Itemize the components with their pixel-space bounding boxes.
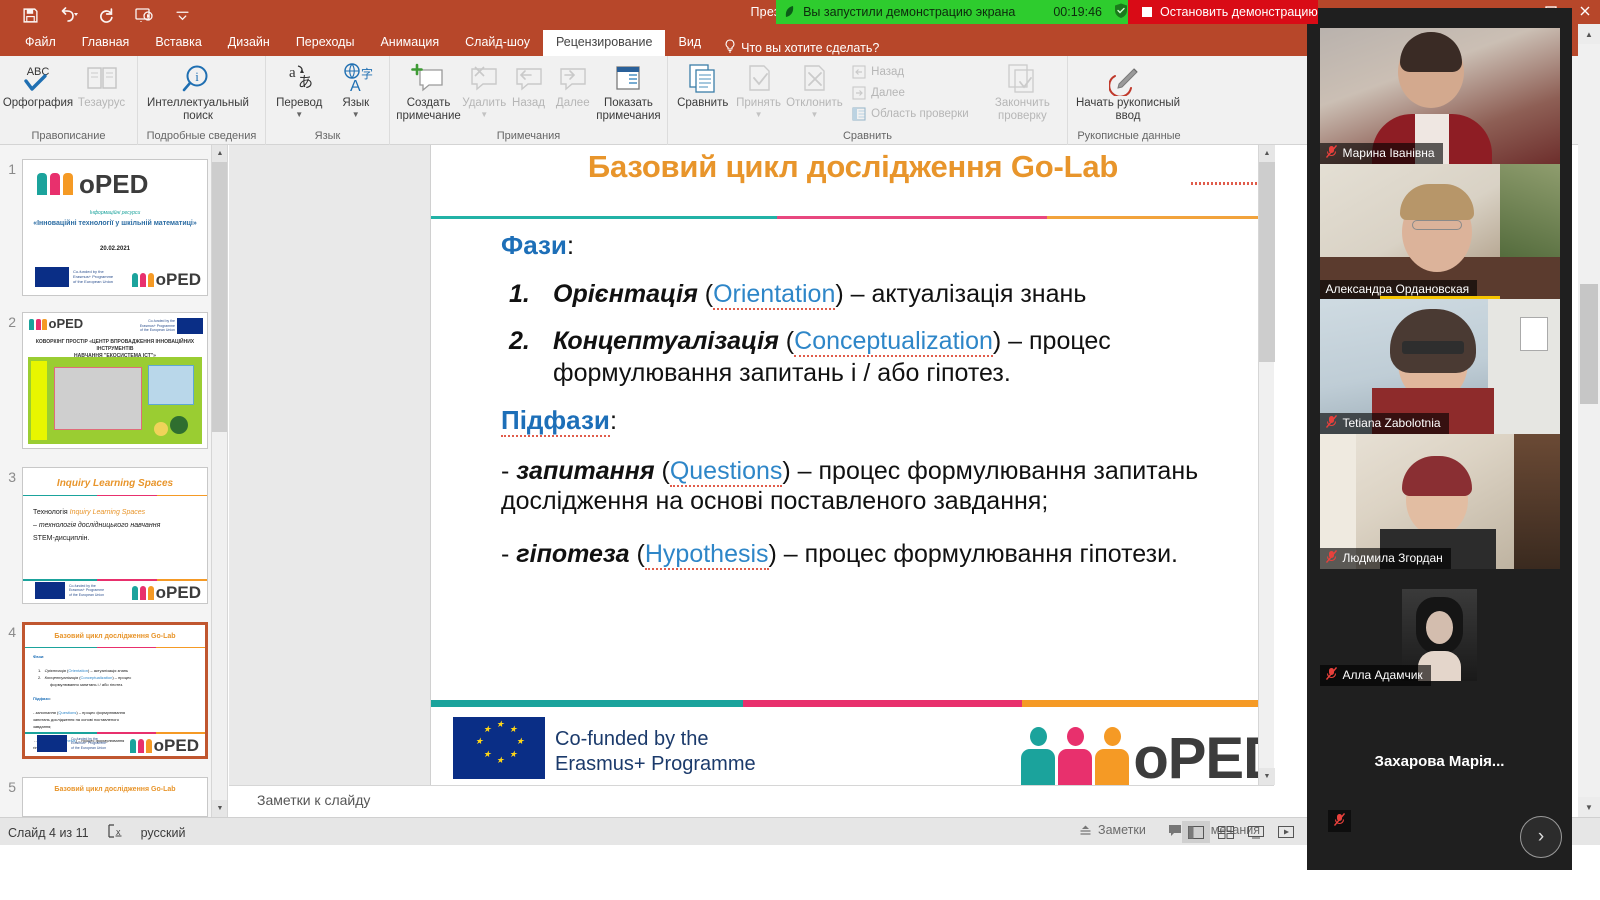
subphases-heading: Підфази:: [501, 405, 1274, 436]
group-label-ink: Рукописные данные: [1073, 130, 1185, 145]
tab-0[interactable]: Файл: [12, 30, 69, 56]
back-arrow-icon: [852, 65, 866, 79]
view-buttons: [1182, 821, 1300, 843]
slide-title[interactable]: Базовий цикл дослідження Go-Lab: [431, 149, 1274, 185]
oped-wordmark: oPED: [1133, 733, 1274, 785]
group-label-insights: Подробные сведения: [143, 130, 260, 145]
svg-text:A: A: [350, 78, 361, 95]
accept-icon: [741, 61, 777, 97]
scroll-up-icon[interactable]: ▲: [1578, 24, 1600, 44]
thesaurus-label: Тезаурус: [78, 97, 125, 110]
compare-small-commands: Назад Далее Область проверки: [848, 59, 973, 127]
spelling-button[interactable]: ABC Орфография: [5, 59, 71, 110]
thesaurus-button[interactable]: Тезаурус: [71, 59, 132, 110]
subphase-rest: – процес формулювання гіпотези.: [777, 540, 1178, 568]
slide-top-rule: [431, 216, 1274, 219]
scroll-up-icon[interactable]: ▲: [212, 145, 228, 162]
right-edge-scrollbar[interactable]: ▲ ▼: [1578, 24, 1600, 817]
mic-muted-icon: [1326, 415, 1337, 431]
notes-toggle-label: Заметки: [1098, 823, 1146, 837]
participant-nametag: Марина Іванівна: [1320, 143, 1443, 164]
scrollbar-thumb[interactable]: [212, 162, 228, 432]
scroll-down-icon[interactable]: ▼: [1578, 797, 1600, 817]
show-comments-button[interactable]: Показать примечания: [595, 59, 662, 123]
slideshow-view-icon[interactable]: [1272, 821, 1300, 843]
tab-8[interactable]: Вид: [665, 30, 714, 56]
svg-text:i: i: [195, 69, 199, 84]
delete-comment-button[interactable]: Удалить ▼: [462, 59, 506, 119]
subphase-dash: -: [501, 540, 516, 568]
chevron-down-icon[interactable]: ▼: [480, 111, 488, 119]
smart-lookup-button[interactable]: i Интеллектуальный поиск: [143, 59, 253, 123]
paren-close: ): [769, 540, 777, 568]
compare-back-button[interactable]: Назад: [848, 62, 973, 83]
subphase-item-1: - запитання (Questions) – процес формулю…: [501, 456, 1274, 517]
reject-icon: [796, 61, 832, 97]
new-comment-icon: [410, 61, 448, 97]
mic-muted-icon: [1328, 810, 1351, 832]
lightbulb-icon: [724, 39, 736, 56]
language-label: Язык: [342, 97, 369, 110]
phase-number: 1.: [501, 279, 553, 310]
reject-label: Отклонить: [786, 97, 843, 110]
subphase-item-2: - гіпотеза (Hypothesis) – процес формулю…: [501, 539, 1274, 570]
comment-icon: [1168, 824, 1182, 837]
language-icon: A字: [338, 61, 374, 97]
thumb-slide-1[interactable]: oPED Інформаційні ресурси «Інноваційні т…: [22, 159, 208, 296]
stop-square-icon: [1142, 7, 1152, 17]
subphase-term: гіпотеза: [516, 540, 629, 568]
compare-back-label: Назад: [871, 66, 904, 78]
participant-nametag: Tetiana Zabolotnia: [1320, 413, 1449, 434]
shield-icon[interactable]: [1114, 3, 1128, 21]
share-message: Вы запустили демонстрацию экрана: [803, 5, 1015, 19]
delete-comment-label: Удалить: [462, 97, 506, 110]
paren-close: ): [835, 280, 843, 308]
slide-body[interactable]: Фази: 1. Орієнтація (Orientation) – акту…: [501, 230, 1274, 579]
zoom-leaf-icon: [776, 5, 803, 19]
chevron-down-icon[interactable]: ▼: [755, 111, 763, 119]
tab-5[interactable]: Анимация: [367, 30, 452, 56]
thumbnails-scrollbar[interactable]: ▲ ▼: [211, 145, 227, 817]
participant-name: Марина Іванівна: [1343, 146, 1435, 160]
slide-counter[interactable]: Слайд 4 из 11: [8, 826, 89, 840]
mic-muted-icon: [1326, 550, 1337, 566]
scroll-down-icon[interactable]: ▼: [1259, 768, 1275, 785]
slide-canvas-area: Базовий цикл дослідження Go-Lab Фази: 1.: [229, 145, 1274, 785]
cofunded-line-2: Erasmus+ Programme: [555, 752, 756, 777]
tab-4[interactable]: Переходы: [283, 30, 368, 56]
stop-share-label: Остановить демонстрацию: [1160, 5, 1318, 19]
abc-check-icon: ABC: [19, 61, 57, 97]
share-status: Вы запустили демонстрацию экрана 00:19:4…: [776, 0, 1128, 24]
compare-next-label: Далее: [871, 87, 905, 99]
chevron-down-icon[interactable]: ▼: [352, 111, 360, 119]
compare-next-button[interactable]: Далее: [848, 83, 973, 104]
end-review-icon: [1004, 61, 1040, 97]
ribbon-group-language: aあ Перевод ▼ A字 Язык ▼: [266, 56, 390, 145]
chevron-down-icon[interactable]: ▼: [810, 111, 818, 119]
share-timer: 00:19:46: [1053, 5, 1102, 19]
phases-colon: :: [567, 230, 574, 260]
cofunded-line-1: Co-funded by the: [555, 727, 756, 752]
thumb-number: 1: [0, 159, 22, 296]
phases-heading-text: Фази: [501, 230, 567, 260]
smart-lookup-label: Интеллектуальный поиск: [143, 97, 253, 123]
scrollbar-thumb[interactable]: [1580, 284, 1598, 404]
list-item[interactable]: 5 Базовий цикл дослідження Go-Lab: [0, 777, 228, 817]
tab-3[interactable]: Дизайн: [215, 30, 283, 56]
participant-tile[interactable]: Александра Ордановская: [1320, 164, 1560, 299]
slide-scrollbar[interactable]: ▲ ▼: [1258, 145, 1274, 785]
forward-arrow-icon: [852, 86, 866, 100]
list-item[interactable]: 4 Базовий цикл дослідження Go-Lab Фази: …: [0, 622, 228, 759]
participant-tile[interactable]: Марина Іванівна: [1320, 28, 1560, 164]
prev-comment-label: Назад: [512, 97, 545, 110]
group-label-compare: Сравнить: [673, 130, 1062, 145]
next-comment-label: Далее: [556, 97, 590, 110]
phase-english: Orientation: [713, 280, 835, 310]
eu-flag-icon: ★★★ ★★★ ★★: [453, 717, 545, 779]
list-item[interactable]: 3 Inquiry Learning Spaces Технологія Inq…: [0, 467, 228, 604]
oped-logo: oPED: [1021, 727, 1274, 785]
screen-share-banner: Вы запустили демонстрацию экрана 00:19:4…: [776, 0, 1306, 24]
list-item[interactable]: 1 oPED Інформаційні ресурси «Інноваційні…: [0, 159, 228, 296]
svg-text:字: 字: [361, 66, 373, 81]
scroll-up-icon[interactable]: ▲: [1259, 145, 1275, 162]
participant-name: Tetiana Zabolotnia: [1343, 416, 1441, 430]
current-slide[interactable]: Базовий цикл дослідження Go-Lab Фази: 1.: [430, 145, 1274, 785]
svg-text:あ: あ: [298, 74, 313, 91]
participant-tile[interactable]: Захарова Марія...: [1320, 700, 1560, 840]
scroll-down-icon[interactable]: ▼: [212, 800, 228, 817]
phase-term: Концептуалізація: [553, 327, 779, 355]
phase-rest: – актуалізація знань: [844, 280, 1087, 308]
tell-me-label: Что вы хотите сделать?: [741, 41, 879, 55]
prev-comment-button[interactable]: Назад: [506, 59, 550, 110]
thumb-slide-5[interactable]: Базовий цикл дослідження Go-Lab: [22, 777, 208, 817]
new-comment-label: Создать примечание: [395, 97, 462, 123]
zoom-video-panel[interactable]: Марина Іванівна Александра Ордановская: [1307, 8, 1572, 870]
start-inking-button[interactable]: Начать рукописный ввод: [1073, 59, 1183, 123]
show-comments-icon: [609, 61, 647, 97]
participant-nametag: Алла Адамчик: [1320, 665, 1431, 686]
participant-name: Алла Адамчик: [1343, 668, 1423, 682]
group-label-language: Язык: [271, 130, 384, 145]
phase-number: 2.: [501, 326, 553, 389]
tab-6[interactable]: Слайд-шоу: [452, 30, 543, 56]
ribbon-group-proofing: ABC Орфография Тезаурус Правописание: [0, 56, 138, 145]
phase-item-1: 1. Орієнтація (Orientation) – актуалізац…: [501, 279, 1274, 310]
next-comment-icon: [555, 61, 591, 97]
subphase-dash: -: [501, 457, 516, 485]
end-review-label: Закончить проверку: [983, 97, 1062, 123]
proofing-icon[interactable]: x: [107, 824, 123, 841]
next-comment-button[interactable]: Далее: [551, 59, 595, 110]
revision-pane-button[interactable]: Область проверки: [848, 104, 973, 125]
paren-open: (: [698, 280, 713, 308]
accept-button[interactable]: Принять ▼: [732, 59, 784, 119]
phases-list: 1. Орієнтація (Orientation) – актуалізац…: [501, 279, 1274, 389]
compare-icon: [685, 61, 721, 97]
thumb-number: 4: [0, 622, 22, 759]
subphases-colon: :: [610, 405, 617, 435]
paren-open: (: [655, 457, 670, 485]
subphases-heading-text: Підфази: [501, 405, 610, 437]
translate-label: Перевод: [276, 97, 322, 110]
slide-footer-rule: [431, 700, 1274, 707]
notes-pane[interactable]: Заметки к слайду: [229, 785, 1274, 817]
participant-tile[interactable]: Tetiana Zabolotnia: [1320, 299, 1560, 434]
chevron-down-icon[interactable]: ▼: [295, 111, 303, 119]
tell-me-box[interactable]: Что вы хотите сделать?: [714, 39, 879, 56]
notes-placeholder[interactable]: Заметки к слайду: [257, 792, 370, 808]
group-label-proofing: Правописание: [5, 130, 132, 145]
close-icon[interactable]: [1578, 4, 1592, 23]
participant-name: Захарова Марія...: [1320, 753, 1560, 770]
show-comments-label: Показать примечания: [595, 97, 662, 123]
mic-muted-icon: [1326, 145, 1337, 161]
prev-comment-icon: [511, 61, 547, 97]
magnifier-info-icon: i: [180, 61, 216, 97]
compare-label: Сравнить: [677, 97, 728, 110]
participant-name: Александра Ордановская: [1326, 282, 1470, 296]
phase-text: Орієнтація (Orientation) – актуалізація …: [553, 279, 1274, 310]
phase-item-2: 2. Концептуалізація (Conceptualization) …: [501, 326, 1274, 389]
end-review-button[interactable]: Закончить проверку: [983, 59, 1062, 123]
phase-term: Орієнтація: [553, 280, 698, 308]
ink-pen-icon: [1109, 61, 1147, 97]
mic-muted-icon: [1326, 667, 1337, 683]
thumb-slide-4[interactable]: Базовий цикл дослідження Go-Lab Фази: 1.…: [22, 622, 208, 759]
phase-text: Концептуалізація (Conceptualization) – п…: [553, 326, 1274, 389]
thumb-number: 5: [0, 777, 22, 817]
language-indicator[interactable]: русский: [141, 826, 186, 840]
revision-pane-icon: [852, 107, 866, 121]
thumb-slide-2[interactable]: oPED Co-funded by theErasmus+ Programmeo…: [22, 312, 208, 449]
book-icon: [85, 61, 119, 97]
stop-share-button[interactable]: Остановить демонстрацию: [1128, 0, 1318, 24]
tab-1[interactable]: Главная: [69, 30, 143, 56]
phase-english: Conceptualization: [794, 327, 993, 357]
notes-icon: [1079, 824, 1092, 837]
reject-button[interactable]: Отклонить ▼: [785, 59, 844, 119]
svg-text:a: a: [289, 65, 296, 81]
paren-close: ): [993, 327, 1001, 355]
subphase-english: Hypothesis: [645, 540, 769, 570]
start-inking-label: Начать рукописный ввод: [1073, 97, 1183, 123]
cofunded-text: Co-funded by the Erasmus+ Programme: [555, 727, 756, 777]
translate-button[interactable]: aあ Перевод ▼: [271, 59, 328, 119]
compare-button[interactable]: Сравнить: [673, 59, 732, 110]
language-button[interactable]: A字 Язык ▼: [328, 59, 385, 119]
participant-tile[interactable]: Алла Адамчик: [1320, 569, 1560, 700]
slide-thumbnails-pane[interactable]: 1 oPED Інформаційні ресурси «Інноваційні…: [0, 145, 228, 817]
next-page-chevron-icon[interactable]: ›: [1520, 816, 1562, 858]
subphase-english: Questions: [670, 457, 783, 487]
sorter-view-icon[interactable]: [1212, 821, 1240, 843]
spelling-label: Орфография: [3, 97, 73, 110]
subphase-term: запитання: [516, 457, 654, 485]
reading-view-icon[interactable]: [1242, 821, 1270, 843]
list-item[interactable]: 2 oPED Co-funded by theErasmus+ Programm…: [0, 312, 228, 449]
notes-toggle[interactable]: Заметки: [1079, 823, 1146, 837]
thumb-number: 3: [0, 467, 22, 604]
phases-heading: Фази:: [501, 230, 1274, 261]
thumb-slide-3[interactable]: Inquiry Learning Spaces Технологія Inqui…: [22, 467, 208, 604]
delete-comment-icon: [466, 61, 502, 97]
group-label-comments: Примечания: [395, 130, 662, 145]
revision-pane-label: Область проверки: [871, 108, 969, 120]
participant-tile[interactable]: Людмила Згордан: [1320, 434, 1560, 569]
participant-name: Людмила Згордан: [1343, 551, 1443, 565]
new-comment-button[interactable]: Создать примечание: [395, 59, 462, 123]
normal-view-icon[interactable]: [1182, 821, 1210, 843]
oped-people-icon: [1021, 727, 1129, 785]
tab-7[interactable]: Рецензирование: [543, 30, 666, 56]
ribbon-group-comments: Создать примечание Удалить ▼: [390, 56, 668, 145]
accept-label: Принять: [736, 97, 781, 110]
translate-icon: aあ: [281, 61, 317, 97]
tab-2[interactable]: Вставка: [142, 30, 214, 56]
participant-nametag: Людмила Згордан: [1320, 548, 1451, 569]
paren-open: (: [630, 540, 645, 568]
ribbon-group-ink: Начать рукописный ввод Рукописные данные: [1068, 56, 1190, 145]
paren-close: ): [782, 457, 790, 485]
paren-open: (: [779, 327, 794, 355]
ribbon-group-compare: Сравнить Принять ▼: [668, 56, 1068, 145]
scrollbar-thumb[interactable]: [1259, 162, 1275, 362]
ribbon-group-insights: i Интеллектуальный поиск Подробные сведе…: [138, 56, 266, 145]
thumb-number: 2: [0, 312, 22, 449]
